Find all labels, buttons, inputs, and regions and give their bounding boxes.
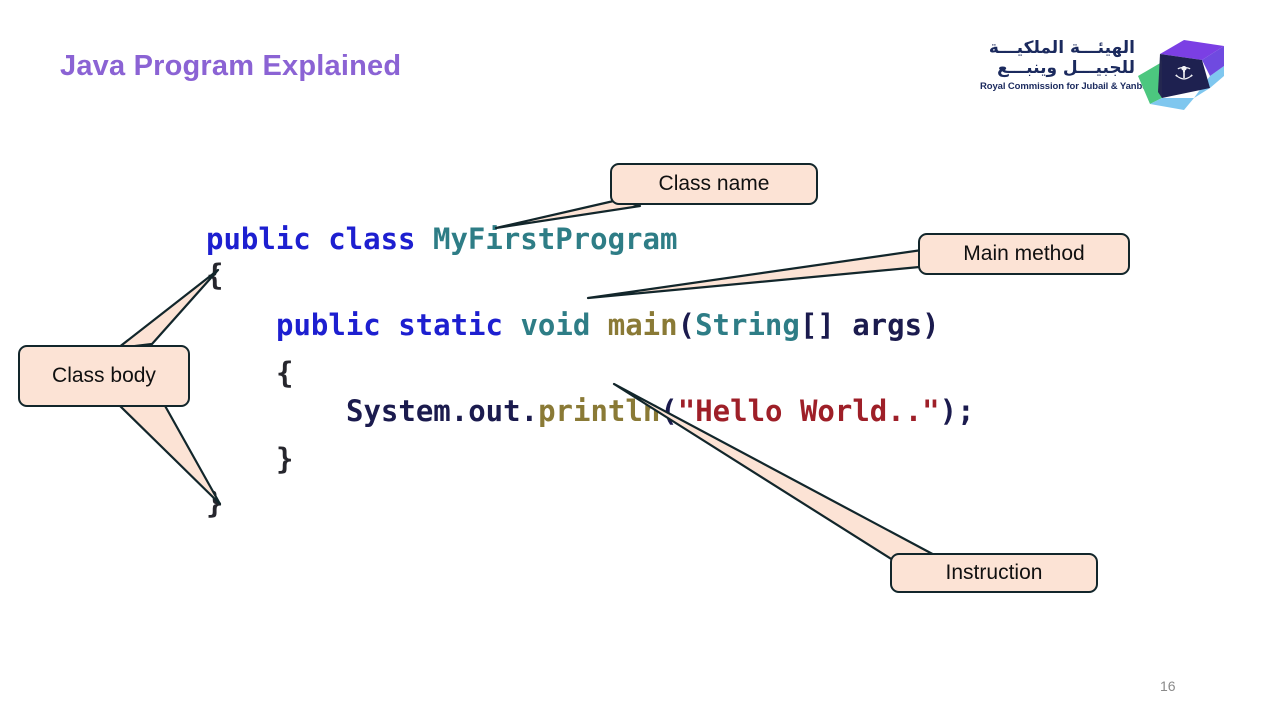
callout-class-name[interactable]: Class name: [610, 163, 818, 205]
callout-class-name-label: Class name: [659, 172, 770, 196]
callout-pointers: [0, 0, 1280, 720]
callout-instruction-label: Instruction: [946, 561, 1043, 585]
callout-class-body[interactable]: Class body: [18, 345, 190, 407]
slide-canvas: Java Program Explained الهيئـــة الملكيـ…: [0, 0, 1280, 720]
callout-main-method-label: Main method: [963, 242, 1084, 266]
callout-main-method[interactable]: Main method: [918, 233, 1130, 275]
callout-instruction[interactable]: Instruction: [890, 553, 1098, 593]
callout-class-body-label: Class body: [52, 364, 156, 388]
